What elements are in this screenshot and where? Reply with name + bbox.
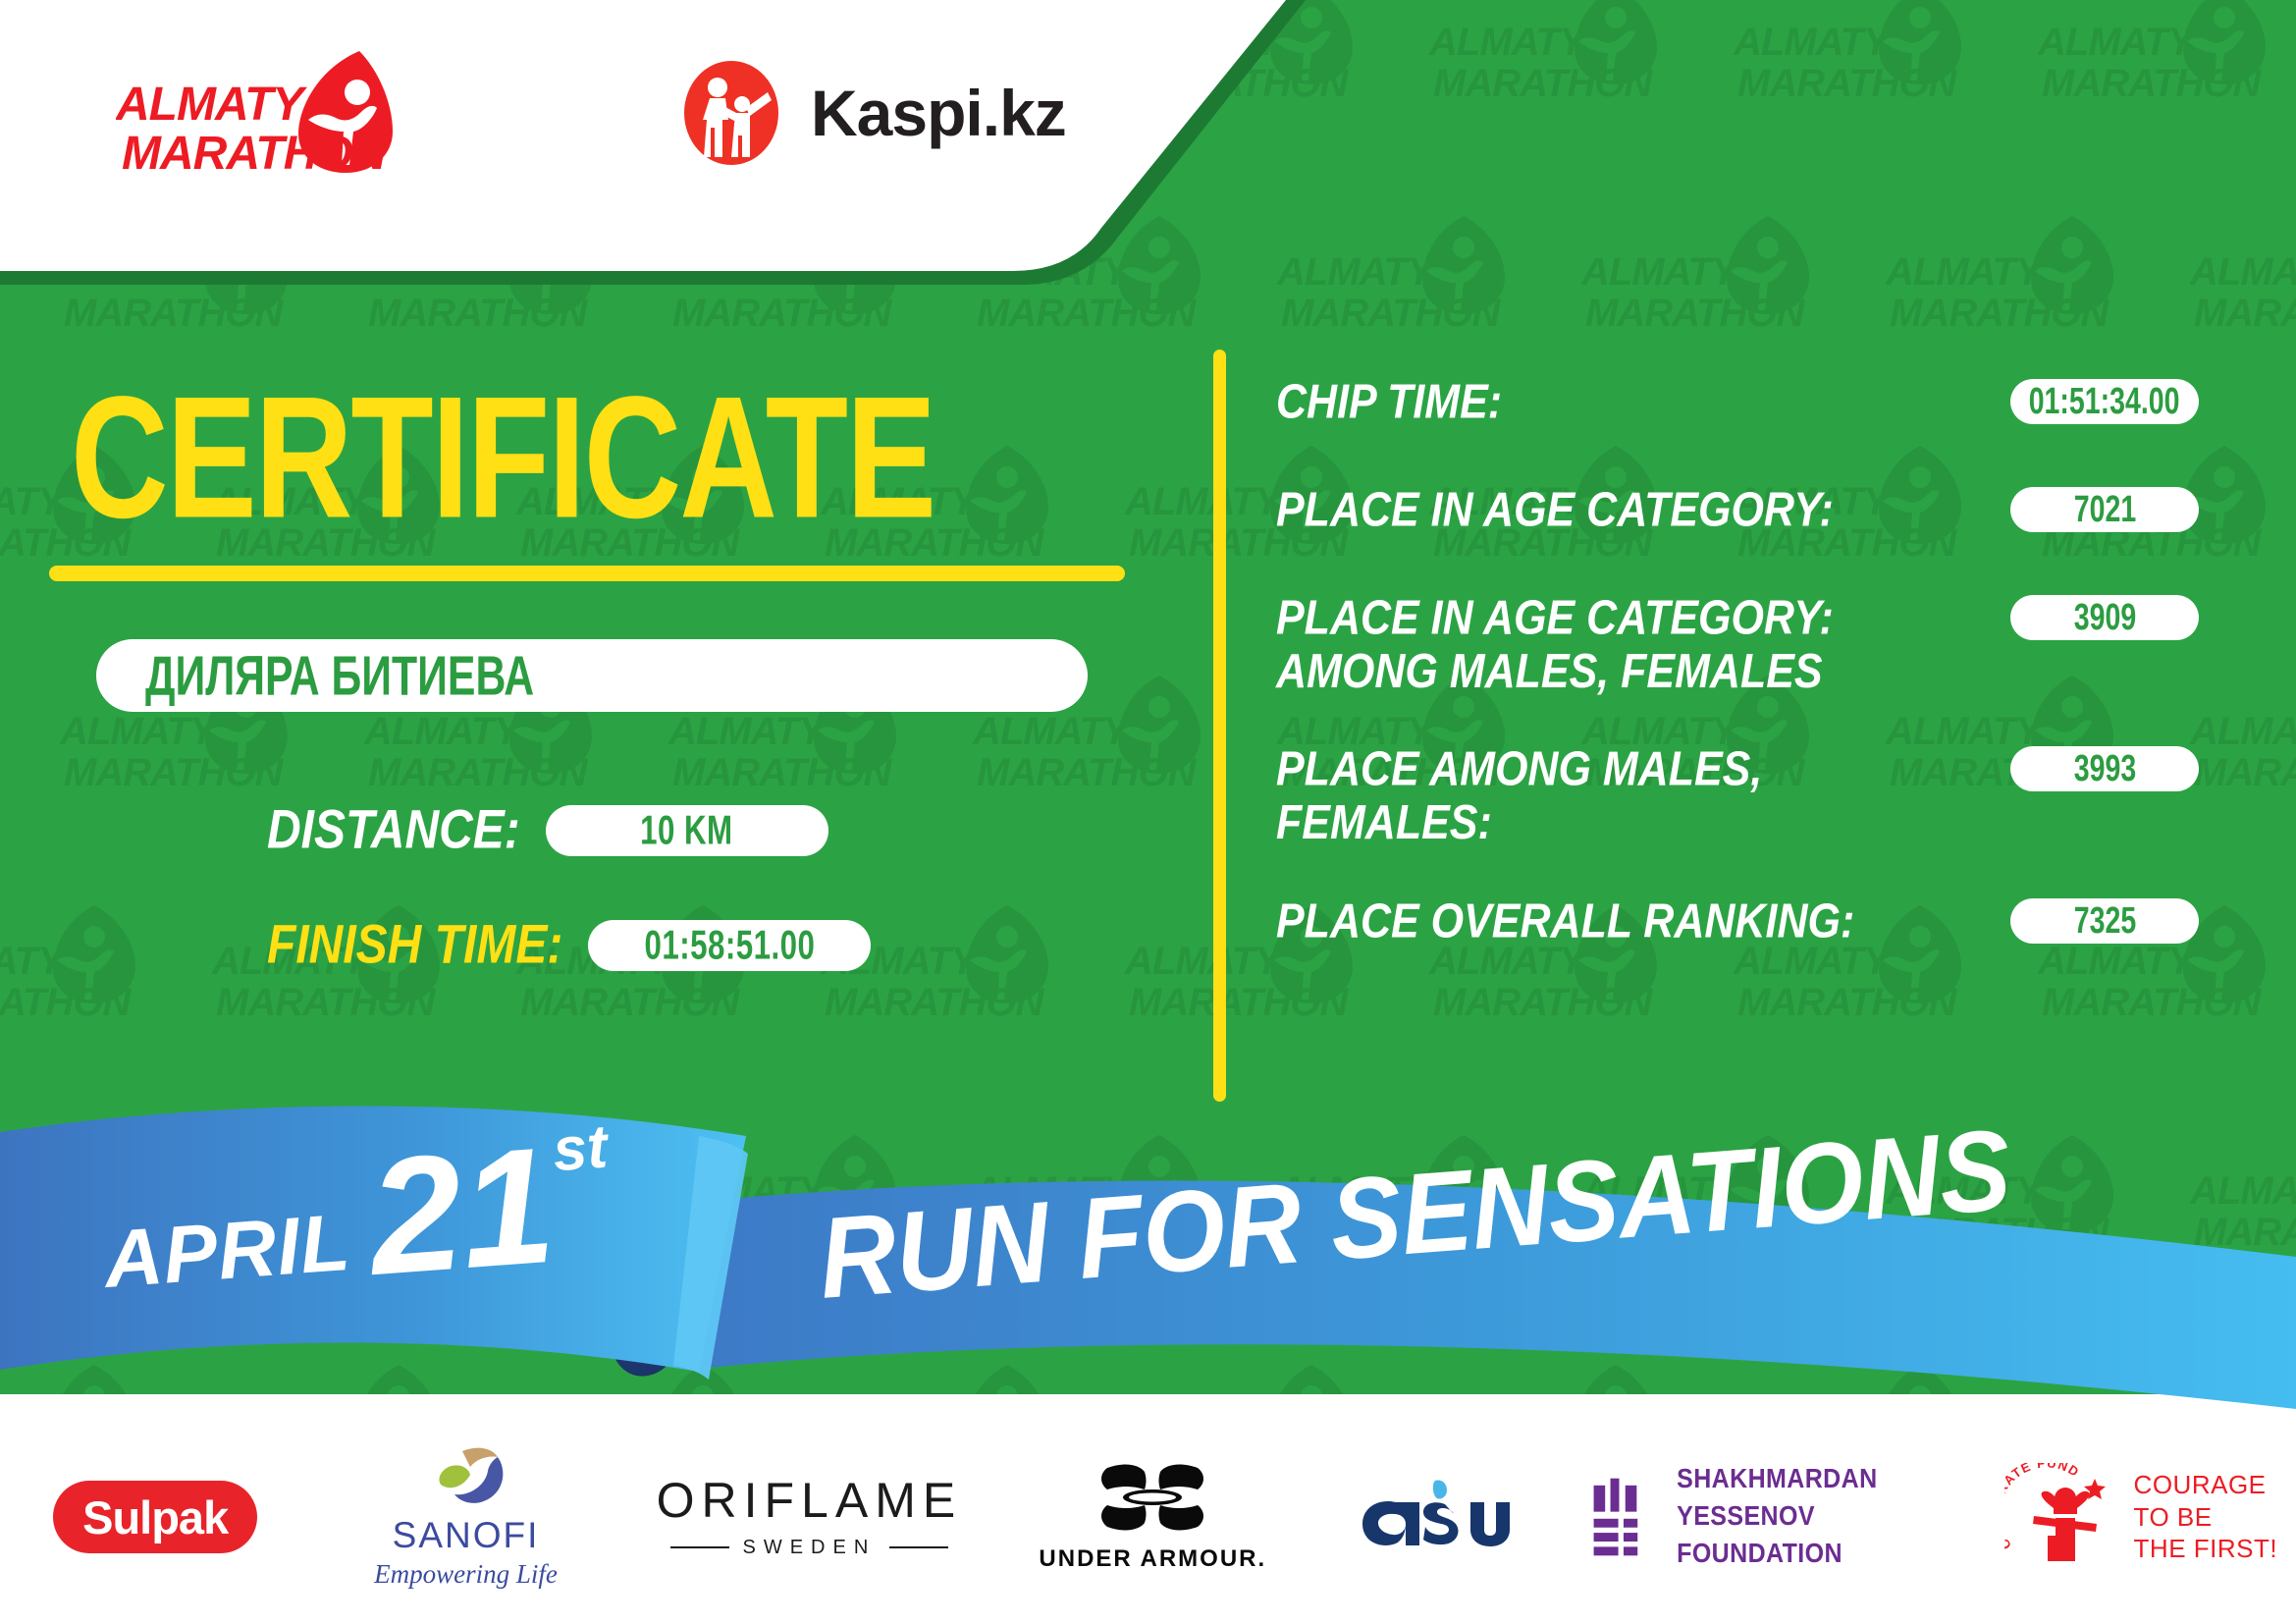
svg-text:ALMATY: ALMATY <box>1428 21 1588 64</box>
svg-text:MARATHON: MARATHON <box>2194 751 2296 794</box>
place-age-category-gender-value: 3909 <box>2073 596 2135 639</box>
place-age-category-value-pill: 7021 <box>2010 487 2199 532</box>
place-age-category-value: 7021 <box>2073 488 2135 531</box>
watermark-tile: ALMATYMARATHON <box>1728 0 2052 177</box>
svg-text:ALMATY: ALMATY <box>2189 710 2296 753</box>
svg-text:MARATHON: MARATHON <box>672 292 892 335</box>
svg-text:MARATHON: MARATHON <box>1129 62 1349 105</box>
event-day: 21 <box>365 1136 559 1287</box>
distance-row: DISTANCE: 10 KM <box>267 805 828 856</box>
svg-text:MARATHON: MARATHON <box>977 292 1197 335</box>
courage-line2: TO BE <box>2134 1501 2278 1534</box>
place-among-gender-value-pill: 3993 <box>2010 746 2199 791</box>
distance-label: DISTANCE: <box>267 803 520 857</box>
distance-value: 10 KM <box>641 807 733 854</box>
svg-text:MARATHON: MARATHON <box>0 981 132 1024</box>
almaty-logo-line2: MARATHON <box>122 128 388 175</box>
finish-time-label: FINISH TIME: <box>267 918 562 972</box>
svg-text:MARATHON: MARATHON <box>1737 62 1957 105</box>
svg-text:ALMATY: ALMATY <box>515 21 675 64</box>
svg-text:ALMATY: ALMATY <box>0 940 67 983</box>
svg-text:ALMATY: ALMATY <box>972 250 1132 294</box>
result-row-place-age-category: PLACE IN AGE CATEGORY: 7021 <box>1276 483 2199 546</box>
participant-name-field: ДИЛЯРА БИТИЕВА <box>96 639 1088 712</box>
svg-text:MARATHON: MARATHON <box>0 62 132 105</box>
oriflame-tagline: SWEDEN <box>743 1537 877 1559</box>
sponsor-logo-oriflame: ORIFLAME SWEDEN <box>621 1438 997 1596</box>
courage-fund-mark-icon: CORPORATE FUND <box>2004 1463 2122 1571</box>
chip-time-value: 01:51:34.00 <box>2029 380 2180 423</box>
sanofi-tagline: Empowering Life <box>374 1559 558 1590</box>
svg-text:ALMATY: ALMATY <box>1124 21 1284 64</box>
sponsor-logo-asu <box>1308 1438 1590 1596</box>
svg-text:ALMATY: ALMATY <box>1124 940 1284 983</box>
under-armour-wordmark: UNDER ARMOUR. <box>1039 1545 1266 1573</box>
watermark-tile: ALMATYMARATHON <box>1880 190 2204 406</box>
kaspi-people-circle-icon <box>677 59 785 167</box>
svg-text:MARATHON: MARATHON <box>1281 292 1501 335</box>
title-underline <box>49 566 1125 581</box>
svg-text:MARATHON: MARATHON <box>2194 292 2296 335</box>
place-overall-value: 7325 <box>2073 899 2135 943</box>
svg-text:ALMATY: ALMATY <box>0 480 67 523</box>
svg-text:MARATHON: MARATHON <box>672 751 892 794</box>
svg-text:MARATHON: MARATHON <box>2042 62 2262 105</box>
distance-value-pill: 10 KM <box>546 805 828 856</box>
svg-text:MARATHON: MARATHON <box>216 981 436 1024</box>
result-row-place-overall: PLACE OVERALL RANKING: 7325 <box>1276 894 2199 957</box>
courage-line1: COURAGE <box>2134 1469 2278 1501</box>
svg-text:MARATHON: MARATHON <box>977 751 1197 794</box>
sulpak-badge: Sulpak <box>53 1481 257 1553</box>
place-among-gender-value: 3993 <box>2073 747 2135 790</box>
kaspi-wordmark: Kaspi.kz <box>811 81 1066 145</box>
place-age-category-gender-value-pill: 3909 <box>2010 595 2199 640</box>
sulpak-wordmark: Sulpak <box>82 1494 228 1541</box>
oriflame-rule-right <box>889 1546 948 1548</box>
watermark-tile: ALMATYMARATHON <box>1575 190 1899 406</box>
svg-text:ALMATY: ALMATY <box>1733 21 1893 64</box>
svg-text:MARATHON: MARATHON <box>64 292 284 335</box>
certificate-page: ALMATYMARATHONALMATYMARATHONALMATYMARATH… <box>0 0 2296 1624</box>
watermark-tile: ALMATYMARATHON <box>1423 0 1747 177</box>
participant-name: ДИЛЯРА БИТИЕВА <box>145 643 534 708</box>
under-armour-mark-icon <box>1090 1462 1215 1533</box>
watermark-tile: ALMATYMARATHON <box>510 880 834 1096</box>
svg-text:ALMATY: ALMATY <box>59 710 219 753</box>
results-list: CHIP TIME: 01:51:34.00 PLACE IN AGE CATE… <box>1276 375 2199 1002</box>
watermark-tile: ALMATYMARATHON <box>0 880 226 1096</box>
sponsor-logo-under-armour: UNDER ARMOUR. <box>997 1438 1308 1596</box>
watermark-tile: ALMATYMARATHON <box>2184 650 2296 866</box>
asu-mark-icon <box>1351 1475 1547 1559</box>
oriflame-rule-left <box>670 1546 729 1548</box>
sanofi-wordmark: SANOFI <box>374 1517 558 1553</box>
watermark-tile: ALMATYMARATHON <box>815 880 1139 1096</box>
event-month: APRIL <box>102 1203 353 1301</box>
place-overall-label: PLACE OVERALL RANKING: <box>1276 894 1854 948</box>
svg-text:ALMATY: ALMATY <box>1276 250 1436 294</box>
svg-text:ALMATY: ALMATY <box>667 710 828 753</box>
finish-time-value: 01:58:51.00 <box>644 922 815 969</box>
place-among-gender-label: PLACE AMONG MALES,FEMALES: <box>1276 742 1762 850</box>
svg-text:ALMATY: ALMATY <box>2189 250 2296 294</box>
svg-text:ALMATY: ALMATY <box>59 250 219 294</box>
sponsor-logo-sanofi: SANOFI Empowering Life <box>310 1438 620 1596</box>
svg-text:MARATHON: MARATHON <box>1890 292 2109 335</box>
svg-text:MARATHON: MARATHON <box>520 981 740 1024</box>
vertical-divider <box>1213 350 1226 1102</box>
svg-text:ALMATY: ALMATY <box>1124 480 1284 523</box>
oriflame-wordmark: ORIFLAME <box>657 1476 963 1525</box>
chip-time-label: CHIP TIME: <box>1276 375 1502 429</box>
result-row-place-among-gender: PLACE AMONG MALES,FEMALES: 3993 <box>1276 742 2199 837</box>
finish-time-value-pill: 01:58:51.00 <box>588 920 871 971</box>
yessenov-line2: FOUNDATION <box>1677 1536 1986 1573</box>
svg-text:ALMATY: ALMATY <box>1580 250 1740 294</box>
place-age-category-label: PLACE IN AGE CATEGORY: <box>1276 483 1834 537</box>
yessenov-mark-icon <box>1590 1472 1655 1562</box>
watermark-tile: ALMATYMARATHON <box>2184 190 2296 406</box>
chip-time-value-pill: 01:51:34.00 <box>2010 379 2199 424</box>
sanofi-mark-icon <box>419 1445 513 1508</box>
svg-text:ALMATY: ALMATY <box>972 710 1132 753</box>
place-overall-value-pill: 7325 <box>2010 898 2199 944</box>
sponsor-logo-courage-fund: CORPORATE FUND COURAGE TO BE THE FIRST! <box>1986 1438 2296 1596</box>
finish-time-row: FINISH TIME: 01:58:51.00 <box>267 920 871 971</box>
sponsor-logo-yessenov-foundation: SHAKHMARDAN YESSENOV FOUNDATION <box>1590 1438 1986 1596</box>
svg-text:MARATHON: MARATHON <box>368 292 588 335</box>
watermark-tile: ALMATYMARATHON <box>2032 0 2296 177</box>
svg-text:MARATHON: MARATHON <box>1433 62 1653 105</box>
svg-text:MARATHON: MARATHON <box>1585 292 1805 335</box>
courage-line3: THE FIRST! <box>2134 1533 2278 1565</box>
yessenov-line1: SHAKHMARDAN YESSENOV <box>1677 1461 1986 1536</box>
watermark-tile: ALMATYMARATHON <box>967 190 1291 406</box>
svg-text:ALMATY: ALMATY <box>2037 21 2197 64</box>
almaty-logo-line1: ALMATY <box>116 79 307 131</box>
svg-text:MARATHON: MARATHON <box>825 981 1044 1024</box>
svg-text:MARATHON: MARATHON <box>64 751 284 794</box>
almaty-marathon-logo: ALMATY MARATHON <box>116 47 450 175</box>
watermark-tile: ALMATYMARATHON <box>1119 0 1443 177</box>
svg-text:MARATHON: MARATHON <box>368 751 588 794</box>
svg-text:ALMATY: ALMATY <box>363 250 523 294</box>
svg-text:ALMATY: ALMATY <box>0 21 67 64</box>
svg-text:ALMATY: ALMATY <box>1885 250 2045 294</box>
watermark-tile: ALMATYMARATHON <box>1271 190 1595 406</box>
svg-text:ALMATY: ALMATY <box>363 710 523 753</box>
event-day-suffix: st <box>551 1116 610 1181</box>
place-age-category-gender-label: PLACE IN AGE CATEGORY:AMONG MALES, FEMAL… <box>1276 591 1834 699</box>
watermark-tile: ALMATYMARATHON <box>206 880 530 1096</box>
result-row-place-age-category-gender: PLACE IN AGE CATEGORY:AMONG MALES, FEMAL… <box>1276 591 2199 685</box>
svg-text:ALMATY: ALMATY <box>820 21 980 64</box>
sponsor-logo-sulpak: Sulpak <box>0 1438 310 1596</box>
svg-text:ALMATY: ALMATY <box>667 250 828 294</box>
kaspi-logo: Kaspi.kz <box>677 59 1090 167</box>
page-title: CERTIFICATE <box>71 371 934 545</box>
result-row-chip-time: CHIP TIME: 01:51:34.00 <box>1276 375 2199 438</box>
sponsor-bar: Sulpak SANOFI Empowering Life ORIFLAME S… <box>0 1410 2296 1624</box>
